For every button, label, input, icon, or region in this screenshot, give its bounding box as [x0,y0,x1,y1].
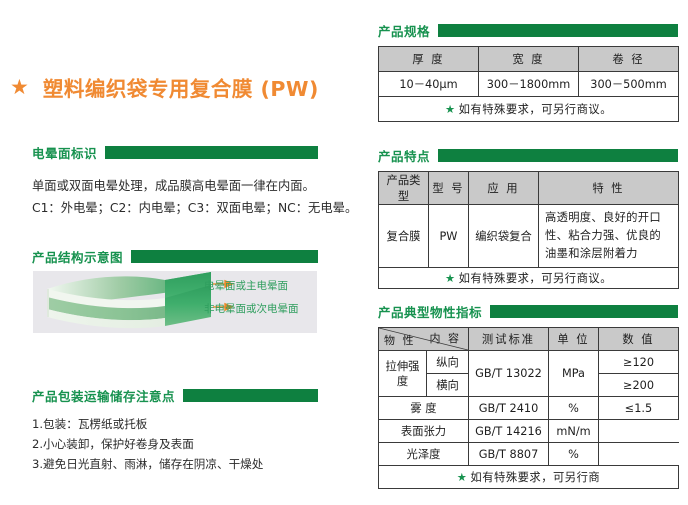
table-row: 拉伸强度 纵向 GB/T 13022 MPa ≥120 [379,351,679,374]
prop-unit-haze: % [549,397,599,420]
prop-unit-tensile: MPa [549,351,599,397]
star-icon: ★ [445,272,456,285]
prop-col-unit: 单 位 [549,328,599,351]
structure-label-top: 电晕面或主电晕面 [204,278,288,293]
properties-note-text: 如有特殊要求，可另行商 [470,471,600,484]
features-note: ★如有特殊要求，可另行商议。 [379,268,679,289]
spec-col-thickness: 厚 度 [379,47,479,72]
prop-value-haze: ≤1.5 [599,397,679,420]
feat-value-model: PW [429,205,469,268]
list-item: 3.避免日光直射、雨淋，储存在阴凉、干燥处 [32,454,263,474]
section-header-packing: 产品包装运输储存注意点 [32,386,318,405]
properties-note: ★如有特殊要求，可另行商 [379,466,679,489]
table-row: 光泽度 GB/T 8807 % [379,443,679,466]
star-icon: ★ [457,471,468,484]
spec-value-width: 300－1800mm [479,72,579,97]
section-header-bar [105,146,318,159]
prop-sub-machine-direction: 纵向 [427,351,469,374]
list-item: 2.小心装卸，保护好卷身及表面 [32,434,263,454]
prop-unit-gloss: % [549,443,599,466]
spec-value-thickness: 10－40μm [379,72,479,97]
section-header-features-label: 产品特点 [378,146,430,165]
properties-corner-header: 内 容 物 性 [379,328,469,351]
prop-standard-tensile: GB/T 13022 [469,351,549,397]
section-header-bar [438,24,678,37]
prop-value-surface-tension [599,420,679,443]
properties-corner-bottom: 物 性 [384,332,416,348]
star-icon: ★ [10,77,29,98]
packing-notes-list: 1.包装：瓦楞纸或托板 2.小心装卸，保护好卷身及表面 3.避免日光直射、雨淋，… [32,414,263,474]
section-header-bar [131,250,318,263]
structure-label-bottom: 非电晕面或次电晕面 [204,301,299,316]
section-header-features: 产品特点 [378,146,678,165]
star-icon: ★ [445,103,456,116]
section-header-properties-label: 产品典型物性指标 [378,302,482,321]
prop-sub-transverse-direction: 横向 [427,374,469,397]
prop-standard-haze: GB/T 2410 [469,397,549,420]
prop-value-gloss [599,443,679,466]
prop-name-haze: 雾 度 [379,397,469,420]
section-header-corona: 电晕面标识 [32,143,318,162]
corona-text-line-1: 单面或双面电晕处理，成品膜高电晕面一律在内面。 [32,176,315,197]
section-header-bar [438,149,678,162]
feat-value-description: 高透明度、良好的开口性、粘合力强、优良的油墨和涂层附着力 [539,205,679,268]
spec-col-width: 宽 度 [479,47,579,72]
feat-value-application: 编织袋复合 [469,205,539,268]
corona-text-line-2: C1：外电晕；C2：内电晕；C3：双面电晕；NC：无电晕。 [32,198,357,219]
properties-corner-top: 内 容 [430,330,462,346]
spec-value-roll-diameter: 300－500mm [579,72,679,97]
table-note-row: ★如有特殊要求，可另行商议。 [379,268,679,289]
spec-table: 厚 度 宽 度 卷 径 10－40μm 300－1800mm 300－500mm… [378,46,679,122]
table-row: 表面张力 GB/T 14216 mN/m [379,420,679,443]
prop-value-td: ≥200 [599,374,679,397]
structure-diagram-panel: 电晕面或主电晕面 非电晕面或次电晕面 [33,271,317,333]
feat-col-application: 应 用 [469,172,539,205]
table-row: 10－40μm 300－1800mm 300－500mm [379,72,679,97]
section-header-properties: 产品典型物性指标 [378,302,678,321]
table-header-row: 产品类型 型 号 应 用 特 性 [379,172,679,205]
features-note-text: 如有特殊要求，可另行商议。 [459,272,612,285]
feat-col-characteristics: 特 性 [539,172,679,205]
table-header-row: 内 容 物 性 测试标准 单 位 数 值 [379,328,679,351]
feat-col-type: 产品类型 [379,172,429,205]
section-header-structure: 产品结构示意图 [32,247,318,266]
table-header-row: 厚 度 宽 度 卷 径 [379,47,679,72]
prop-value-md: ≥120 [599,351,679,374]
prop-name-text: 拉伸强度 [386,360,420,388]
spec-col-roll-diameter: 卷 径 [579,47,679,72]
page-title: ★ 塑料编织袋专用复合膜 (PW) [10,72,319,102]
prop-name-gloss: 光泽度 [379,443,469,466]
section-header-packing-label: 产品包装运输储存注意点 [32,386,175,405]
table-row: 雾 度 GB/T 2410 % ≤1.5 [379,397,679,420]
list-item: 1.包装：瓦楞纸或托板 [32,414,263,434]
section-header-spec: 产品规格 [378,21,678,40]
table-note-row: ★如有特殊要求，可另行商议。 [379,97,679,122]
prop-standard-surface-tension: GB/T 14216 [469,420,549,443]
prop-unit-surface-tension: mN/m [549,420,599,443]
table-row: 复合膜 PW 编织袋复合 高透明度、良好的开口性、粘合力强、优良的油墨和涂层附着… [379,205,679,268]
spec-note: ★如有特殊要求，可另行商议。 [379,97,679,122]
section-header-structure-label: 产品结构示意图 [32,247,123,266]
prop-name-tensile-strength: 拉伸强度 [379,351,427,397]
section-header-bar [183,389,318,402]
prop-name-surface-tension: 表面张力 [379,420,469,443]
section-header-bar [490,305,678,318]
section-header-corona-label: 电晕面标识 [32,143,97,162]
prop-standard-gloss: GB/T 8807 [469,443,549,466]
prop-col-standard: 测试标准 [469,328,549,351]
page-title-text: 塑料编织袋专用复合膜 (PW) [43,72,319,102]
properties-table: 内 容 物 性 测试标准 单 位 数 值 拉伸强度 纵向 GB/T 13022 … [378,327,679,489]
spec-note-text: 如有特殊要求，可另行商议。 [459,103,612,116]
feat-col-model: 型 号 [429,172,469,205]
prop-col-value: 数 值 [599,328,679,351]
section-header-spec-label: 产品规格 [378,21,430,40]
feat-value-type: 复合膜 [379,205,429,268]
features-table: 产品类型 型 号 应 用 特 性 复合膜 PW 编织袋复合 高透明度、良好的开口… [378,171,679,289]
table-note-row: ★如有特殊要求，可另行商 [379,466,679,489]
